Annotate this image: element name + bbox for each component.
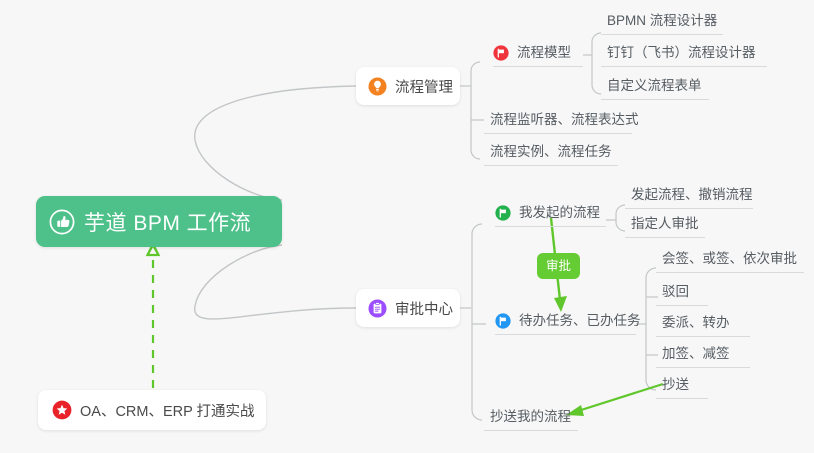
leaf-dingtalk-feishu-designer[interactable]: 钉钉（飞书）流程设计器 — [601, 44, 767, 67]
leaf-label-delegate-transfer: 委派、转办 — [662, 315, 730, 330]
branch-node-process-management[interactable]: 流程管理 — [356, 67, 460, 105]
edge-my-initiated-spine — [616, 205, 625, 231]
flag-icon — [495, 313, 511, 329]
root-label: 芋道 BPM 工作流 — [84, 207, 251, 237]
leaf-label-todo-done-tasks: 待办任务、已办任务 — [519, 312, 641, 330]
leaf-label-start-cancel-process: 发起流程、撤销流程 — [631, 187, 753, 202]
leaf-label-cc-to-me-process: 抄送我的流程 — [490, 409, 571, 424]
leaf-todo-done-tasks[interactable]: 待办任务、已办任务 — [495, 312, 636, 335]
edge-process-management-spine — [471, 62, 480, 159]
arrow-integration-to-root — [148, 244, 159, 388]
leaf-cc-to-me-process[interactable]: 抄送我的流程 — [484, 408, 578, 431]
arrow-cc-to-cc-my-process — [566, 384, 663, 416]
root-node[interactable]: 芋道 BPM 工作流 — [36, 196, 282, 247]
leaf-label-bpmn-designer: BPMN 流程设计器 — [607, 13, 717, 28]
branch-label-process-management: 流程管理 — [395, 76, 453, 97]
leaf-countersign-orsign-sequential[interactable]: 会签、或签、依次审批 — [656, 250, 804, 273]
leaf-label-dingtalk-feishu-designer: 钉钉（飞书）流程设计器 — [607, 45, 756, 60]
leaf-reject[interactable]: 驳回 — [656, 283, 708, 306]
leaf-cc[interactable]: 抄送 — [656, 376, 708, 399]
annotation-chip-approve-label: 审批 — [546, 259, 571, 273]
leaf-label-countersign-orsign-sequential: 会签、或签、依次审批 — [662, 251, 797, 266]
leaf-custom-process-form[interactable]: 自定义流程表单 — [601, 77, 709, 100]
leaf-label-custom-process-form: 自定义流程表单 — [607, 78, 702, 93]
clipboard-icon — [368, 299, 387, 318]
edge-root-to-approval-center — [195, 245, 356, 319]
leaf-label-process-listener-expression: 流程监听器、流程表达式 — [490, 112, 639, 127]
flag-icon — [495, 205, 511, 221]
edge-process-model-spine — [592, 33, 601, 94]
lightbulb-icon — [368, 77, 387, 96]
leaf-label-process-model: 流程模型 — [517, 44, 571, 62]
leaf-label-process-instance-task: 流程实例、流程任务 — [490, 144, 612, 159]
leaf-label-cc: 抄送 — [662, 377, 689, 392]
branch-label-approval-center: 审批中心 — [395, 298, 453, 319]
branch-node-approval-center[interactable]: 审批中心 — [356, 289, 460, 327]
star-icon — [52, 400, 72, 420]
leaf-delegate-transfer[interactable]: 委派、转办 — [656, 314, 750, 337]
leaf-add-remove-sign[interactable]: 加签、减签 — [656, 345, 750, 368]
edge-todo-done-spine — [646, 268, 656, 390]
floating-node-label-integration-practice: OA、CRM、ERP 打通实战 — [80, 400, 255, 421]
floating-node-integration-practice[interactable]: OA、CRM、ERP 打通实战 — [38, 390, 266, 430]
leaf-process-instance-task[interactable]: 流程实例、流程任务 — [484, 143, 618, 166]
flag-icon — [493, 45, 509, 61]
thumbs-up-icon — [49, 209, 75, 235]
leaf-my-initiated-process[interactable]: 我发起的流程 — [495, 204, 606, 227]
mindmap-canvas: 芋道 BPM 工作流 流程管理 流程模型 BPMN 流程设计器 钉钉（飞书 — [0, 0, 814, 453]
edge-root-to-process-management — [195, 86, 356, 200]
leaf-process-listener-expression[interactable]: 流程监听器、流程表达式 — [484, 111, 632, 134]
annotation-chip-approve: 审批 — [537, 253, 580, 279]
leaf-process-model[interactable]: 流程模型 — [493, 44, 583, 67]
edge-approval-center-spine — [472, 224, 482, 420]
leaf-start-cancel-process[interactable]: 发起流程、撤销流程 — [625, 186, 753, 209]
leaf-bpmn-designer[interactable]: BPMN 流程设计器 — [601, 12, 723, 35]
leaf-label-add-remove-sign: 加签、减签 — [662, 346, 730, 361]
leaf-label-reject: 驳回 — [662, 284, 689, 299]
leaf-label-designated-approver: 指定人审批 — [631, 216, 699, 231]
leaf-designated-approver[interactable]: 指定人审批 — [625, 215, 705, 238]
leaf-label-my-initiated-process: 我发起的流程 — [519, 204, 600, 222]
